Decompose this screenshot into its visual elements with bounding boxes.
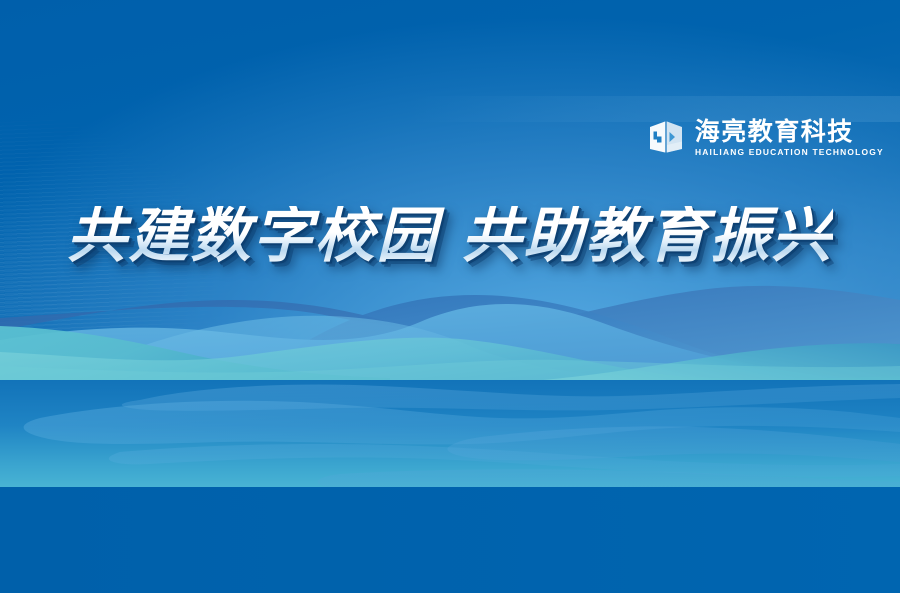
- brand-logo: 海亮教育科技 HAILIANG EDUCATION TECHNOLOGY: [648, 118, 878, 158]
- scenery-illustration: [0, 0, 900, 593]
- bottom-band: [0, 487, 900, 593]
- promotional-banner: 共建数字校园 共助教育振兴 海亮教育科技 HAILIANG EDUCATION …: [0, 0, 900, 593]
- logo-name-cn: 海亮教育科技: [695, 119, 854, 146]
- headline-container: 共建数字校园 共助教育振兴: [0, 206, 900, 266]
- hailiang-book-h-icon: [648, 118, 686, 158]
- logo-name-en: HAILIANG EDUCATION TECHNOLOGY: [695, 149, 884, 157]
- page-title: 共建数字校园 共助教育振兴: [67, 206, 834, 266]
- logo-text-block: 海亮教育科技 HAILIANG EDUCATION TECHNOLOGY: [695, 119, 878, 157]
